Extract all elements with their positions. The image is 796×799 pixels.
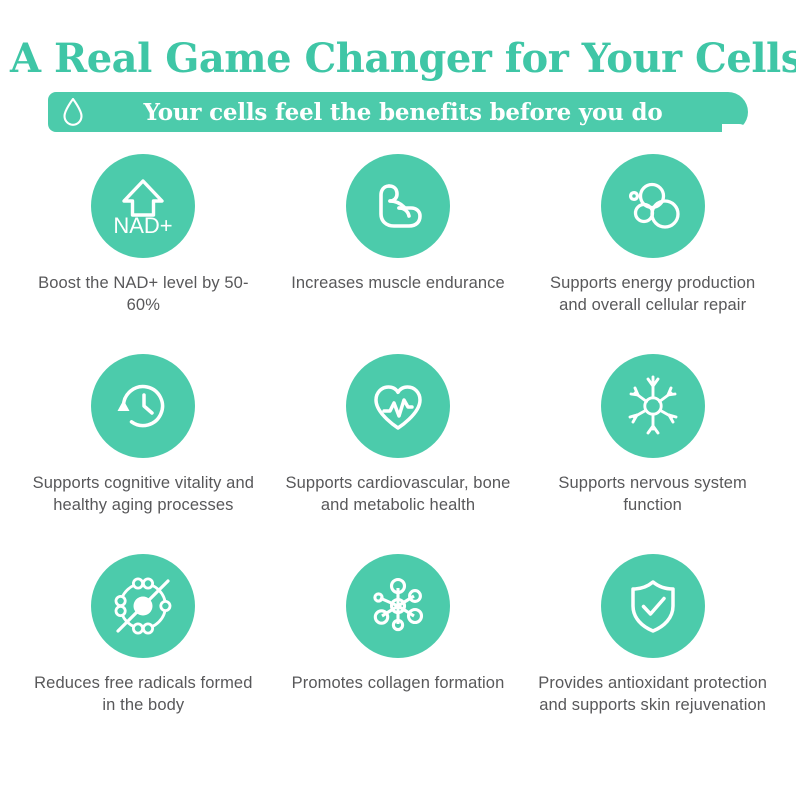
nad-up-arrow-icon: NAD+: [91, 154, 195, 258]
page-title: A Real Game Changer for Your Cells: [0, 38, 796, 80]
benefit-item: Reduces free radicals formed in the body: [16, 554, 271, 754]
benefit-caption: Increases muscle endurance: [291, 272, 505, 294]
water-drop-icon: [62, 98, 84, 126]
flexed-bicep-icon: [346, 154, 450, 258]
neuron-icon: [601, 354, 705, 458]
heart-pulse-icon: [346, 354, 450, 458]
benefit-item: Supports cognitive vitality and healthy …: [16, 354, 271, 554]
benefit-item: Increases muscle endurance: [271, 154, 526, 354]
benefits-grid: NAD+ Boost the NAD+ level by 50-60% Incr…: [0, 154, 796, 754]
cells-bubbles-icon: [601, 154, 705, 258]
benefit-item: Supports nervous system function: [525, 354, 780, 554]
clock-rewind-icon: [91, 354, 195, 458]
benefit-caption: Boost the NAD+ level by 50-60%: [26, 272, 261, 317]
benefit-caption: Supports cognitive vitality and healthy …: [26, 472, 261, 517]
subtitle-banner: Your cells feel the benefits before you …: [48, 92, 748, 132]
benefit-caption: Supports cardiovascular, bone and metabo…: [280, 472, 515, 517]
svg-text:NAD+: NAD+: [114, 213, 173, 238]
benefit-item: Promotes collagen formation: [271, 554, 526, 754]
benefit-caption: Provides antioxidant protection and supp…: [535, 672, 770, 717]
benefit-item: NAD+ Boost the NAD+ level by 50-60%: [16, 154, 271, 354]
benefit-item: Supports cardiovascular, bone and metabo…: [271, 354, 526, 554]
infographic-page: A Real Game Changer for Your Cells Your …: [0, 0, 796, 799]
header: A Real Game Changer for Your Cells Your …: [0, 0, 796, 132]
shield-check-icon: [601, 554, 705, 658]
benefit-item: Provides antioxidant protection and supp…: [525, 554, 780, 754]
benefit-caption: Reduces free radicals formed in the body: [26, 672, 261, 717]
free-radical-blocked-icon: [91, 554, 195, 658]
subtitle-banner-wrap: Your cells feel the benefits before you …: [0, 92, 796, 132]
benefit-caption: Promotes collagen formation: [292, 672, 505, 694]
benefit-caption: Supports energy production and overall c…: [535, 272, 770, 317]
molecule-network-icon: [346, 554, 450, 658]
benefit-caption: Supports nervous system function: [535, 472, 770, 517]
benefit-item: Supports energy production and overall c…: [525, 154, 780, 354]
banner-subtitle: Your cells feel the benefits before you …: [48, 99, 748, 126]
